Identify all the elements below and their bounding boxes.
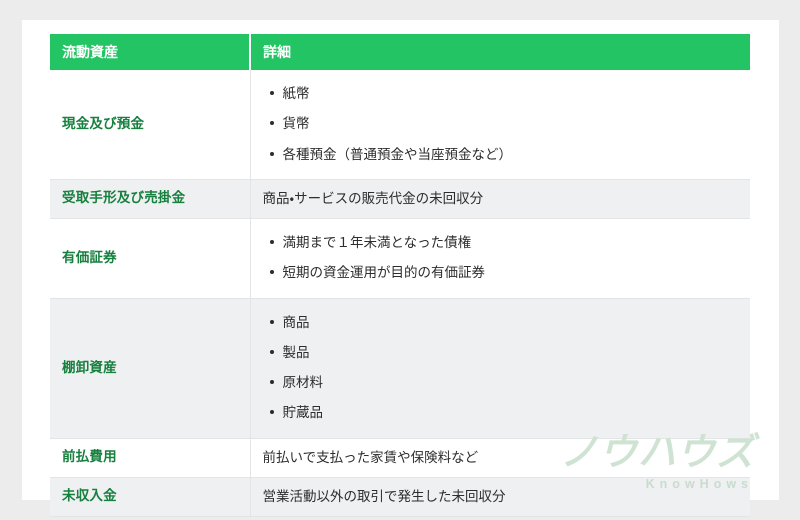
knowhows-logo: ノウハウズ KnowHows: [560, 433, 755, 491]
column-header-detail: 詳細: [250, 34, 750, 70]
logo-roman-text: KnowHows: [560, 478, 753, 491]
table-cell-term: 棚卸資産: [50, 298, 250, 438]
detail-text: 商品・サービスの販売代金の未回収分: [263, 191, 484, 206]
table-header-row: 流動資産 詳細: [50, 34, 750, 70]
content-card: 流動資産 詳細 現金及び預金紙幣貨幣各種預金（普通預金や当座預金など）受取手形及…: [22, 20, 779, 500]
table-cell-term: 受取手形及び売掛金: [50, 179, 250, 218]
column-header-term: 流動資産: [50, 34, 250, 70]
table-row: 受取手形及び売掛金商品・サービスの販売代金の未回収分: [50, 179, 750, 218]
detail-list-item: 貯蔵品: [283, 398, 739, 428]
table-row: 有価証券満期まで１年未満となった債権短期の資金運用が目的の有価証券: [50, 219, 750, 299]
table-cell-detail: 紙幣貨幣各種預金（普通預金や当座預金など）: [250, 70, 750, 179]
table-cell-term: 現金及び預金: [50, 70, 250, 179]
table-cell-detail: 商品・サービスの販売代金の未回収分: [250, 179, 750, 218]
detail-list-item: 短期の資金運用が目的の有価証券: [283, 258, 739, 288]
detail-list-item: 商品: [283, 308, 739, 338]
logo-kana-text: ノウハウズ: [560, 433, 755, 471]
detail-bullet-list: 満期まで１年未満となった債権短期の資金運用が目的の有価証券: [263, 228, 739, 289]
term-label: 受取手形及び売掛金: [62, 190, 185, 205]
term-label: 有価証券: [62, 250, 117, 265]
detail-text: 営業活動以外の取引で発生した未回収分: [263, 489, 506, 504]
detail-list-item: 紙幣: [283, 79, 739, 109]
detail-list-item: 原材料: [283, 368, 739, 398]
term-label: 棚卸資産: [62, 360, 117, 375]
page-root: 流動資産 詳細 現金及び預金紙幣貨幣各種預金（普通預金や当座預金など）受取手形及…: [0, 0, 800, 520]
table-cell-detail: 満期まで１年未満となった債権短期の資金運用が目的の有価証券: [250, 219, 750, 299]
detail-bullet-list: 紙幣貨幣各種預金（普通預金や当座預金など）: [263, 79, 739, 170]
table-row: 棚卸資産商品製品原材料貯蔵品: [50, 298, 750, 438]
detail-list-item: 製品: [283, 338, 739, 368]
table-cell-term: 前払費用: [50, 438, 250, 477]
term-label: 未収入金: [62, 488, 117, 503]
table-cell-detail: 商品製品原材料貯蔵品: [250, 298, 750, 438]
detail-bullet-list: 商品製品原材料貯蔵品: [263, 308, 739, 429]
detail-text: 前払いで支払った家賃や保険料など: [263, 450, 479, 465]
term-label: 前払費用: [62, 449, 117, 464]
term-label: 現金及び預金: [62, 116, 144, 131]
table-header: 流動資産 詳細: [50, 34, 750, 70]
detail-list-item: 各種預金（普通預金や当座預金など）: [283, 140, 739, 170]
table-cell-term: 有価証券: [50, 219, 250, 299]
table-cell-term: 未収入金: [50, 477, 250, 516]
detail-list-item: 貨幣: [283, 109, 739, 139]
detail-list-item: 満期まで１年未満となった債権: [283, 228, 739, 258]
table-row: 現金及び預金紙幣貨幣各種預金（普通預金や当座預金など）: [50, 70, 750, 179]
